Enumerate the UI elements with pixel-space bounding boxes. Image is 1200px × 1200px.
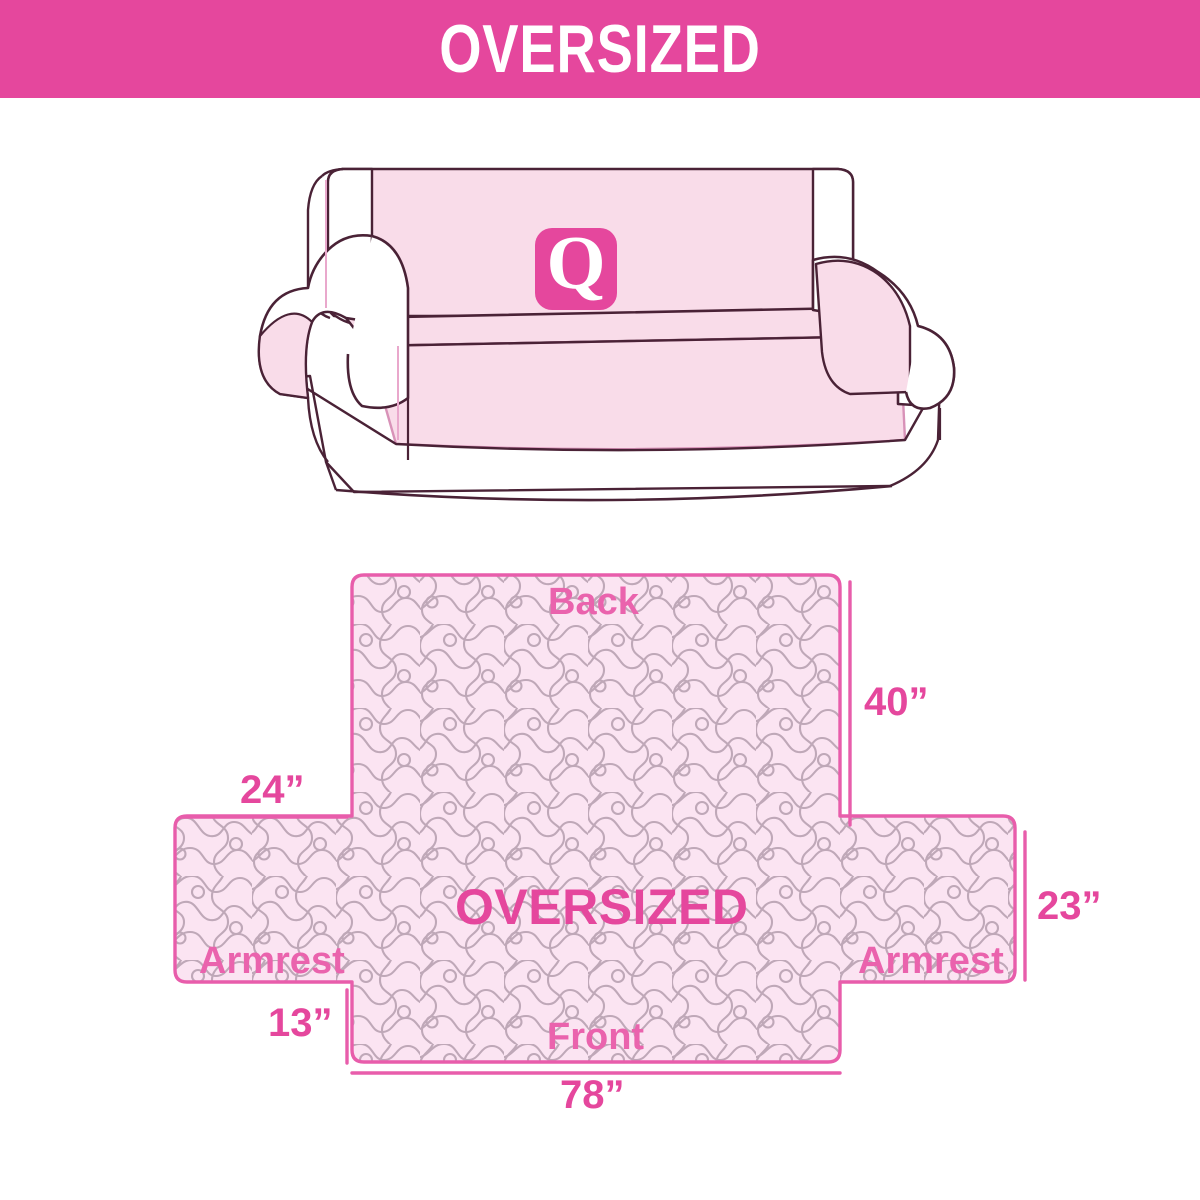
page-title: OVERSIZED [439,15,761,83]
dimension-back-height: 40” [864,682,929,722]
header-banner: OVERSIZED [0,0,1200,98]
dimension-overall-width: 78” [560,1075,625,1115]
dimension-armrest-height: 23” [1037,886,1102,926]
sofa-illustration: Q [250,140,970,510]
label-front: Front [547,1018,644,1056]
label-size-name: OVERSIZED [455,882,748,932]
label-armrest-left: Armrest [199,942,345,980]
label-back: Back [548,583,639,621]
brand-logo: Q [535,221,617,310]
infographic-canvas: OVERSIZED [0,0,1200,1200]
dimension-front-drop: 13” [268,1003,333,1043]
svg-text:Q: Q [546,221,605,305]
dimension-armrest-width: 24” [240,770,305,810]
label-armrest-right: Armrest [858,942,1004,980]
